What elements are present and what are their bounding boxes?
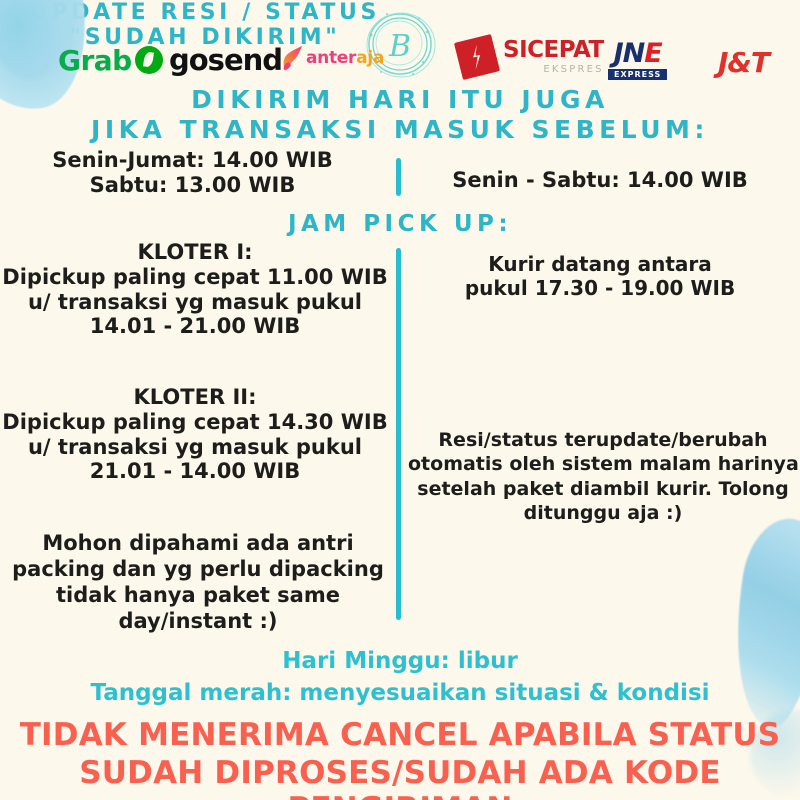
sicepat-logo-text: SICEPAT <box>503 39 604 62</box>
kurir-arrival-block: Kurir datang antara pukul 17.30 - 19.00 … <box>400 253 800 300</box>
sicepat-bolt-icon <box>454 34 500 80</box>
packing-notice-line-1: Mohon dipahami ada antri <box>8 530 388 556</box>
grab-logo-text: Grab <box>58 44 132 77</box>
resi-note-block: Resi/status terupdate/berubah otomatis o… <box>408 428 798 525</box>
kurir-arrival-line-2: pukul 17.30 - 19.00 WIB <box>400 277 800 301</box>
update-resi-heading-line-1: UPDATE RESI / STATUS <box>0 0 410 25</box>
headline-line-2: JIKA TRANSAKSI MASUK SEBELUM: <box>0 115 800 144</box>
anteraja-logo: anteraja <box>280 44 384 72</box>
packing-notice-block: Mohon dipahami ada antri packing dan yg … <box>8 530 388 634</box>
sunday-closed-note: Hari Minggu: libur <box>0 648 800 674</box>
jt-logo: J&T <box>718 46 769 79</box>
packing-notice-line-3: tidak hanya paket same <box>8 582 388 608</box>
kloter-1-line-4: 14.01 - 21.00 WIB <box>0 314 390 339</box>
packing-notice-line-4: day/instant :) <box>8 608 388 634</box>
jne-logo: JNE EXPRESS <box>608 40 667 80</box>
kloter-1-line-3: u/ transaksi yg masuk pukul <box>0 290 390 315</box>
anteraja-text-part2: aja <box>356 48 384 68</box>
kloter-2-line-2: Dipickup paling cepat 14.30 WIB <box>0 410 390 435</box>
right-cutoff-hours-line-1: Senin - Sabtu: 14.00 WIB <box>400 168 800 193</box>
jne-logo-subtext: EXPRESS <box>608 69 667 80</box>
red-date-note: Tanggal merah: menyesuaikan situasi & ko… <box>0 680 800 706</box>
right-cutoff-hours: Senin - Sabtu: 14.00 WIB <box>400 168 800 193</box>
kloter-2-line-4: 21.01 - 14.00 WIB <box>0 459 390 484</box>
grab-logo: Grab <box>58 44 132 77</box>
kloter-1-title: KLOTER I: <box>0 240 390 265</box>
resi-note-line-3: setelah paket diambil kurir. Tolong <box>408 477 798 501</box>
kloter-1-line-2: Dipickup paling cepat 11.00 WIB <box>0 265 390 290</box>
resi-note-line-2: otomatis oleh sistem malam harinya <box>408 452 798 476</box>
sicepat-logo-subtext: EKSPRES <box>503 64 604 75</box>
jne-logo-text: JNE <box>614 40 662 67</box>
packing-notice-line-2: packing dan yg perlu dipacking <box>8 556 388 582</box>
vertical-divider-top <box>396 158 401 196</box>
anteraja-rocket-icon <box>280 44 304 72</box>
jt-logo-text: J&T <box>718 46 769 79</box>
cancel-warning-line-2: SUDAH DIPROSES/SUDAH ADA KODE PENGIRIMAN <box>0 755 800 800</box>
kurir-arrival-line-1: Kurir datang antara <box>400 253 800 277</box>
anteraja-logo-text: anteraja <box>306 48 384 68</box>
sicepat-logo: SICEPAT EKSPRES <box>458 38 604 76</box>
gosend-logo: gosend <box>135 43 282 77</box>
resi-note-line-4: ditunggu aja :) <box>408 501 798 525</box>
kloter-2-line-3: u/ transaksi yg masuk pukul <box>0 435 390 460</box>
kloter-2-block: KLOTER II: Dipickup paling cepat 14.30 W… <box>0 385 390 484</box>
anteraja-text-part1: anter <box>306 48 356 68</box>
courier-logo-strip: Grab gosend antera <box>0 36 800 84</box>
vertical-divider-bottom <box>396 248 401 620</box>
resi-note-line-1: Resi/status terupdate/berubah <box>408 428 798 452</box>
promo-poster: B Grab gosend <box>0 0 800 800</box>
jam-pickup-heading: JAM PICK UP: <box>0 211 800 237</box>
jne-text-e: E <box>644 38 661 69</box>
gosend-leaf-icon <box>135 46 163 74</box>
gosend-logo-text: gosend <box>169 43 282 77</box>
left-cutoff-hours: Senin-Jumat: 14.00 WIB Sabtu: 13.00 WIB <box>0 148 385 198</box>
headline-line-1: DIKIRIM HARI ITU JUGA <box>0 85 800 114</box>
kloter-1-block: KLOTER I: Dipickup paling cepat 11.00 WI… <box>0 240 390 339</box>
jne-text-jn: JN <box>614 38 645 69</box>
left-cutoff-hours-line-2: Sabtu: 13.00 WIB <box>0 173 385 198</box>
cancel-warning-line-1: TIDAK MENERIMA CANCEL APABILA STATUS <box>0 717 800 753</box>
left-cutoff-hours-line-1: Senin-Jumat: 14.00 WIB <box>0 148 385 173</box>
kloter-2-title: KLOTER II: <box>0 385 390 410</box>
